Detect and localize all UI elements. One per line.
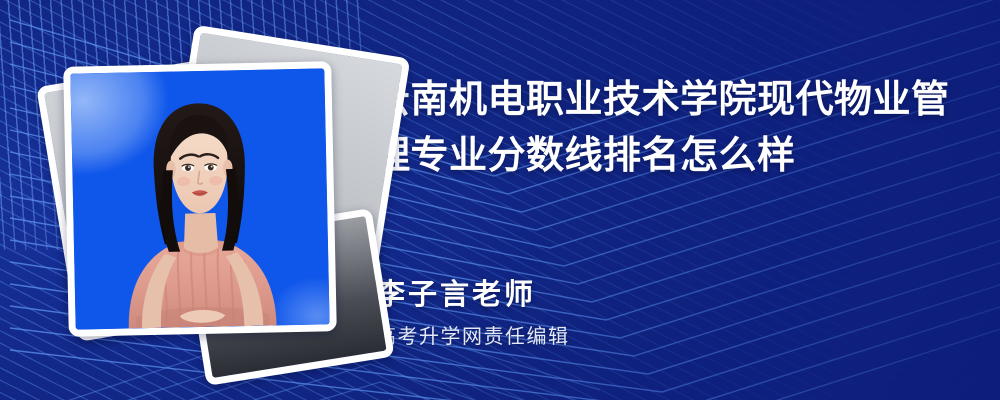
- banner-text-column: 云南机电职业技术学院现代物业管理专业分数线排名怎么样 李子言老师 高考升学网责任…: [372, 0, 972, 400]
- article-header-banner: 云南机电职业技术学院现代物业管理专业分数线排名怎么样 李子言老师 高考升学网责任…: [0, 0, 1000, 400]
- page-title: 云南机电职业技术学院现代物业管理专业分数线排名怎么样: [372, 72, 962, 184]
- author-role: 高考升学网责任编辑: [376, 320, 570, 349]
- author-portrait-image: [70, 68, 329, 329]
- photo-background: [70, 68, 329, 329]
- author-name: 李子言老师: [376, 271, 536, 313]
- photo-card-stack: [44, 26, 364, 356]
- author-photo-card: [63, 61, 337, 337]
